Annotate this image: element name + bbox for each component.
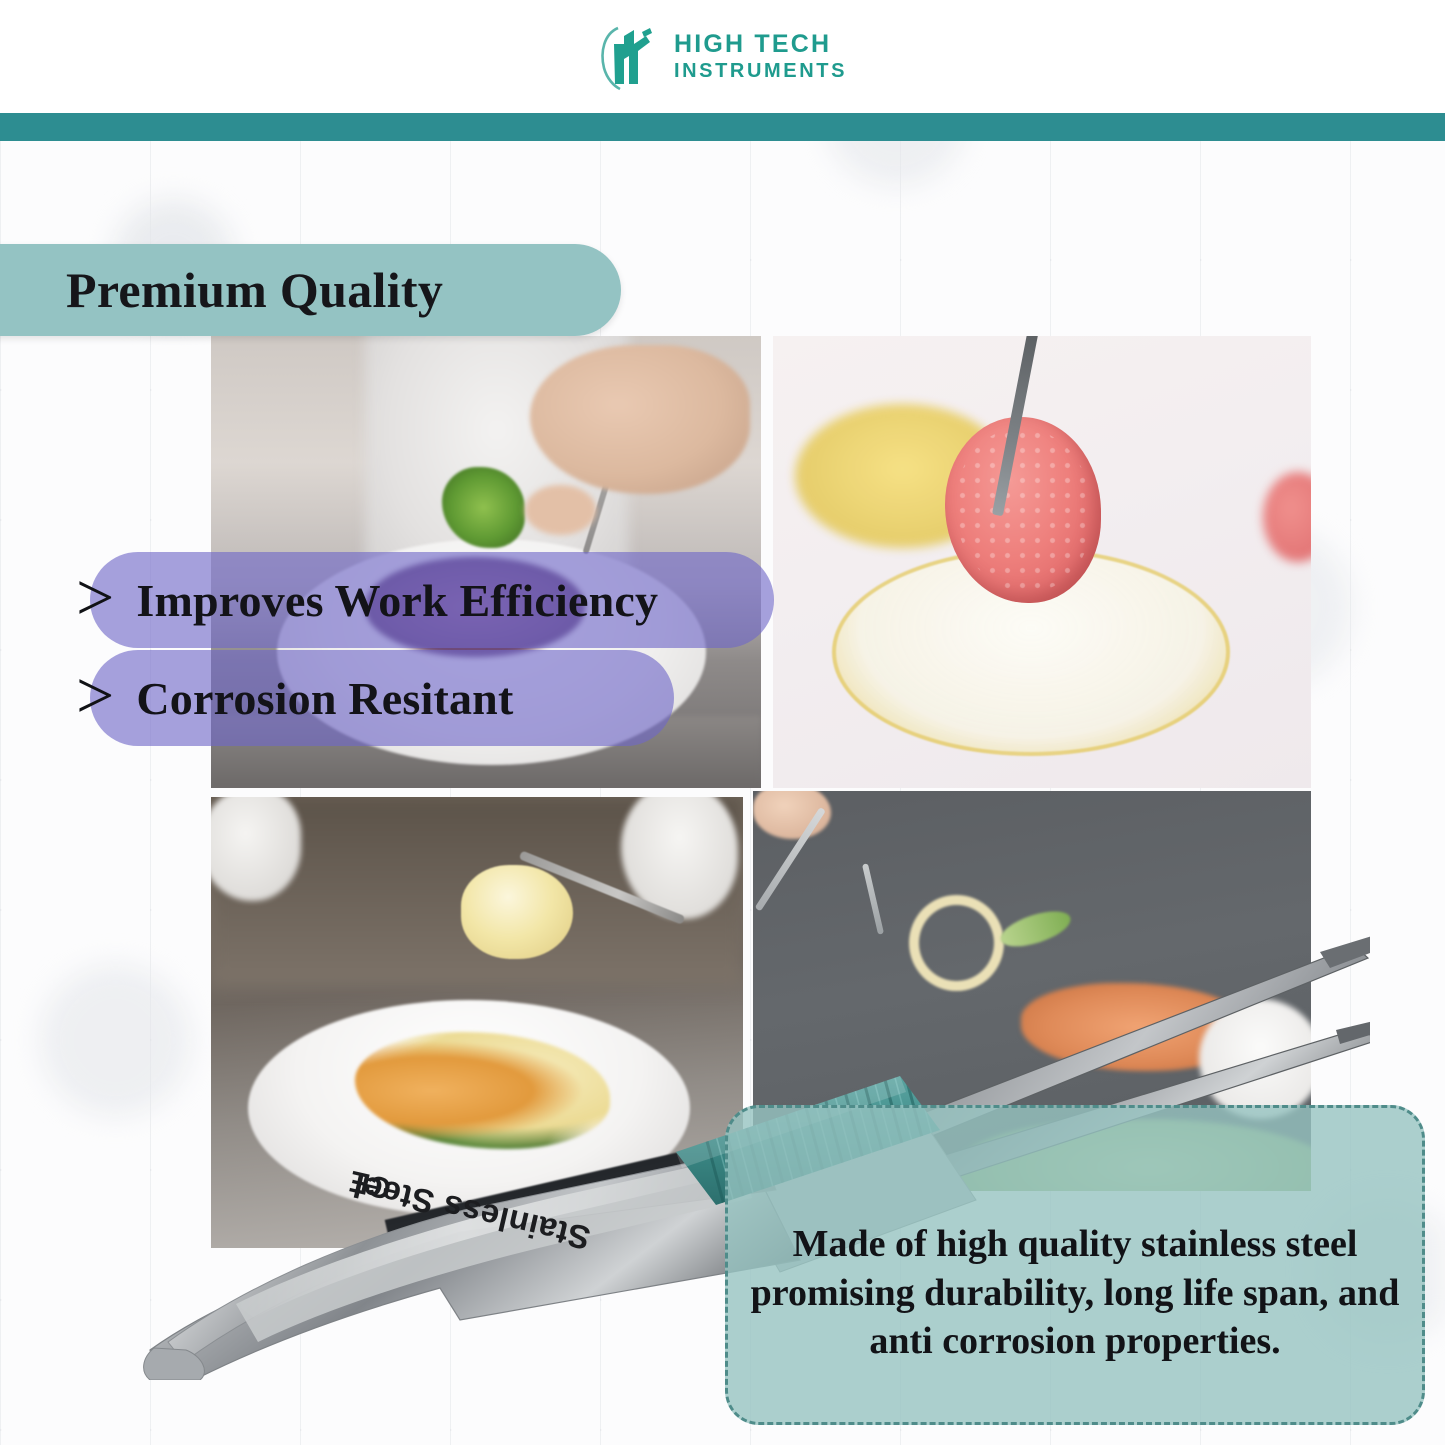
feature-label: Corrosion Resitant — [136, 672, 513, 725]
gloved-hands-plating-vegetables-photo: Gloved hands plating potatoes and carrot… — [211, 797, 743, 1248]
brand-logo: HIGH TECH INSTRUMENTS — [598, 22, 847, 92]
chevron-right-icon: > — [76, 563, 114, 631]
product-description-text: Made of high quality stainless steel pro… — [728, 1220, 1422, 1366]
brand-line-1: HIGH TECH — [674, 32, 847, 57]
feature-item-corrosion: > Corrosion Resitant — [62, 650, 622, 746]
feature-item-efficiency: > Improves Work Efficiency — [62, 552, 762, 648]
chevron-right-icon: > — [76, 661, 114, 729]
infographic-canvas: HIGH TECH INSTRUMENTS Premium Quality Ch… — [0, 0, 1445, 1445]
ht-monogram-logo-icon — [598, 22, 660, 92]
header-divider-bar — [0, 113, 1445, 141]
brand-line-2: INSTRUMENTS — [674, 61, 847, 81]
product-description-box: Made of high quality stainless steel pro… — [725, 1105, 1425, 1425]
premium-quality-banner: Premium Quality — [0, 244, 621, 336]
feature-label: Improves Work Efficiency — [136, 574, 658, 627]
brand-wordmark: HIGH TECH INSTRUMENTS — [674, 32, 847, 81]
banner-title: Premium Quality — [66, 261, 443, 319]
brand-header: HIGH TECH INSTRUMENTS — [0, 0, 1445, 113]
strawberry-petri-dish-photo: Strawberry held by tweezers above a petr… — [773, 336, 1311, 788]
